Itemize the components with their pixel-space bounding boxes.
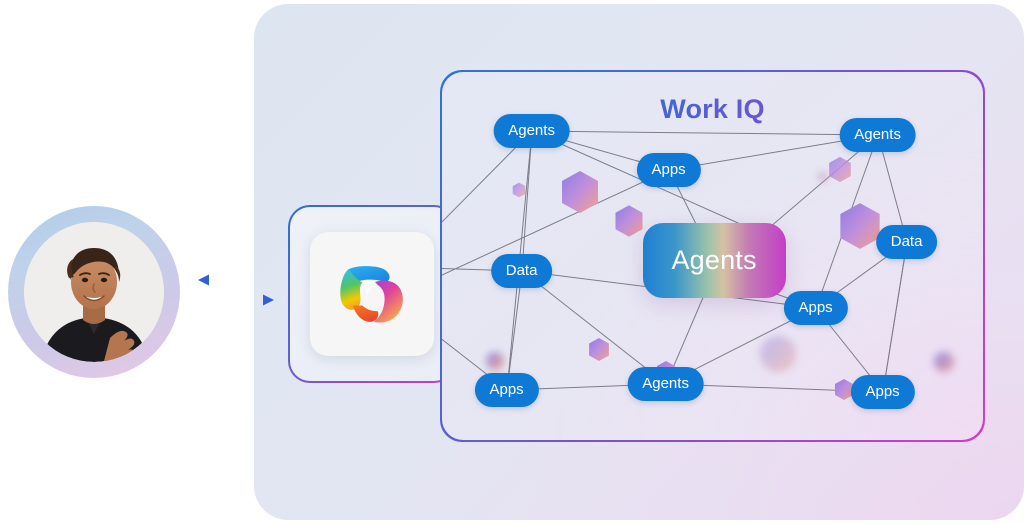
graph-node-label: Apps bbox=[798, 299, 832, 316]
graph-node[interactable]: Agents bbox=[627, 367, 704, 401]
arrow-right-icon bbox=[200, 295, 274, 306]
graph-node-label: Apps bbox=[489, 381, 523, 398]
graph-node[interactable]: Data bbox=[491, 254, 553, 288]
center-node-label: Agents bbox=[671, 245, 756, 276]
copilot-card[interactable] bbox=[288, 205, 456, 383]
graph-node-label: Agents bbox=[642, 375, 689, 392]
avatar bbox=[24, 222, 164, 362]
copilot-logo bbox=[324, 246, 420, 342]
decorative-blob bbox=[486, 352, 504, 370]
graph-node[interactable]: Agents bbox=[839, 118, 916, 152]
hexagon-icon bbox=[588, 337, 610, 362]
work-iq-panel-inner: Work IQ bbox=[442, 72, 984, 441]
graph-node[interactable]: Apps bbox=[783, 291, 847, 325]
graph-node-label: Data bbox=[891, 233, 923, 250]
avatar-ring bbox=[8, 206, 180, 378]
decorative-blob bbox=[934, 352, 954, 372]
graph-node-label: Agents bbox=[854, 126, 901, 143]
graph-node-label: Agents bbox=[508, 122, 555, 139]
avatar-illustration bbox=[24, 222, 164, 362]
hexagon-icon bbox=[828, 156, 852, 183]
decorative-blob bbox=[760, 336, 796, 372]
graph-node-label: Data bbox=[506, 262, 538, 279]
graph-node-label: Apps bbox=[651, 161, 685, 178]
graph-node[interactable]: Agents bbox=[493, 114, 570, 148]
graph-node[interactable]: Apps bbox=[850, 375, 914, 409]
graph-node-label: Apps bbox=[865, 383, 899, 400]
graph-node[interactable]: Apps bbox=[636, 153, 700, 187]
copilot-card-inner bbox=[290, 207, 454, 381]
center-node-agents[interactable]: Agents bbox=[643, 223, 786, 298]
graph-node[interactable]: Apps bbox=[474, 373, 538, 407]
graph-node[interactable]: Data bbox=[876, 225, 938, 259]
arrow-left-icon bbox=[198, 275, 272, 286]
bidirectional-arrows bbox=[196, 268, 276, 312]
decorative-blob bbox=[818, 172, 828, 182]
hexagon-icon bbox=[512, 182, 526, 198]
hexagon-icon bbox=[560, 170, 600, 214]
work-iq-panel: Work IQ bbox=[440, 70, 985, 442]
copilot-logo-tile[interactable] bbox=[310, 232, 434, 356]
hexagon-icon bbox=[614, 204, 644, 238]
